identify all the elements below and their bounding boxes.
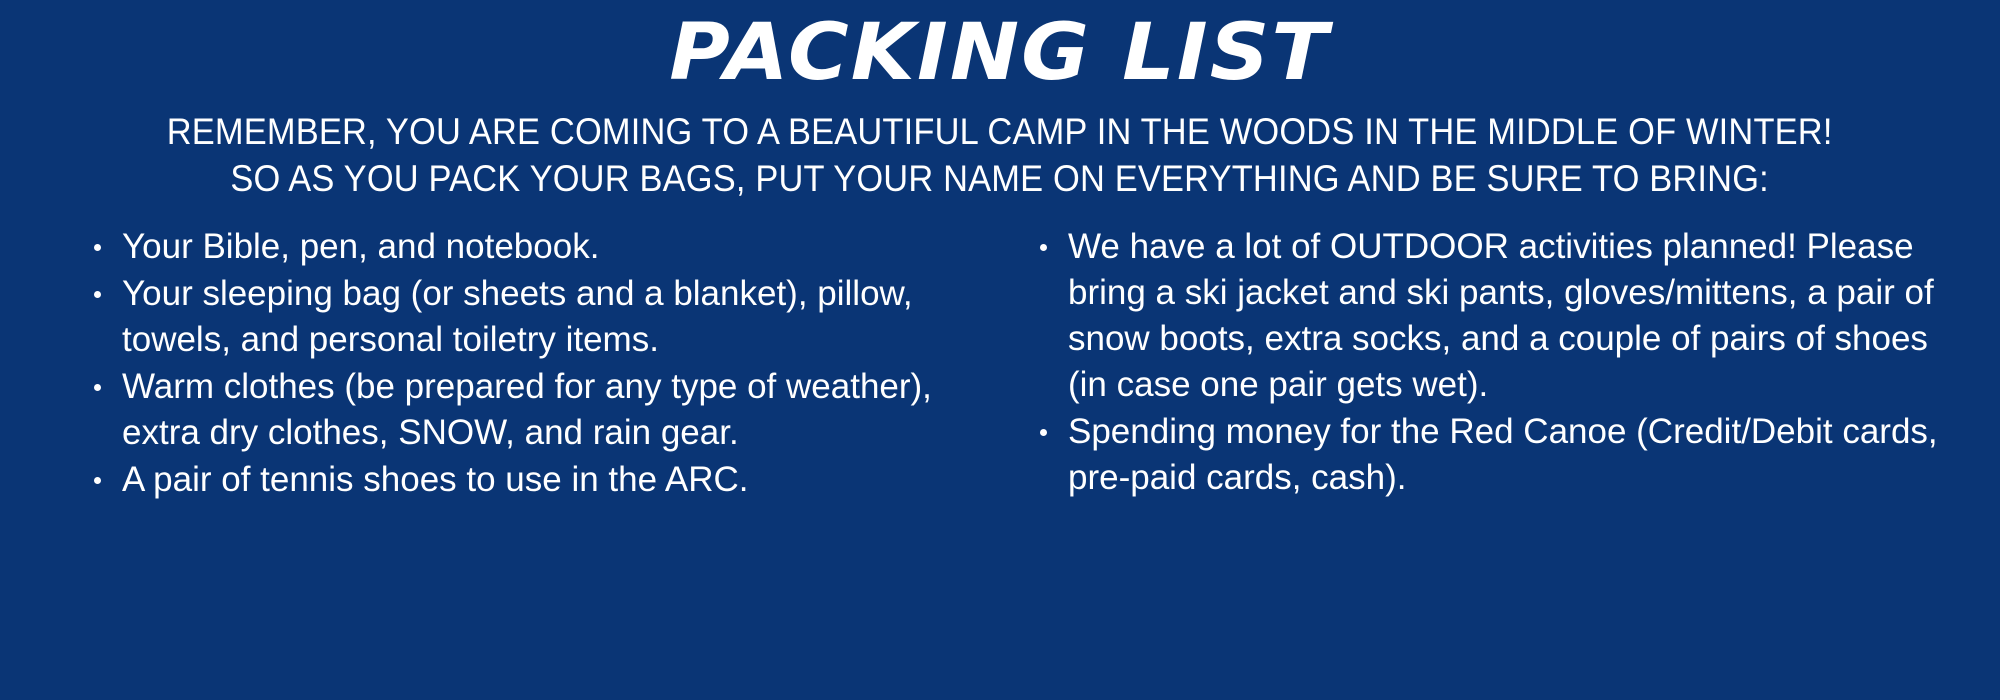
bullet-dot-icon: [1040, 429, 1047, 436]
list-item: Warm clothes (be prepared for any type o…: [90, 364, 976, 456]
list-item-text: We have a lot of OUTDOOR activities plan…: [1068, 227, 1934, 404]
bullet-dot-icon: [94, 384, 101, 391]
left-column: Your Bible, pen, and notebook. Your slee…: [42, 224, 1000, 504]
list-item-text: Spending money for the Red Canoe (Credit…: [1068, 412, 1938, 497]
list-item: Spending money for the Red Canoe (Credit…: [1036, 409, 1948, 501]
list-item-text: A pair of tennis shoes to use in the ARC…: [122, 460, 748, 499]
list-item: Your sleeping bag (or sheets and a blank…: [90, 271, 976, 363]
intro-line-2: SO AS YOU PACK YOUR BAGS, PUT YOUR NAME …: [167, 155, 1833, 202]
right-column: We have a lot of OUTDOOR activities plan…: [1000, 224, 1958, 502]
list-item-text: Warm clothes (be prepared for any type o…: [122, 367, 932, 452]
bullet-dot-icon: [94, 291, 101, 298]
packing-list-poster: Packing List REMEMBER, YOU ARE COMING TO…: [0, 0, 2000, 700]
list-item-text: Your Bible, pen, and notebook.: [122, 227, 599, 266]
packing-list-columns: Your Bible, pen, and notebook. Your slee…: [0, 202, 2000, 504]
intro-paragraph: REMEMBER, YOU ARE COMING TO A BEAUTIFUL …: [167, 108, 1833, 202]
list-item: Your Bible, pen, and notebook.: [90, 224, 976, 270]
right-bullet-list: We have a lot of OUTDOOR activities plan…: [1036, 224, 1948, 501]
bullet-dot-icon: [94, 244, 101, 251]
page-title: Packing List: [670, 14, 1331, 92]
bullet-dot-icon: [1040, 244, 1047, 251]
bullet-dot-icon: [94, 477, 101, 484]
list-item: A pair of tennis shoes to use in the ARC…: [90, 457, 976, 503]
list-item: We have a lot of OUTDOOR activities plan…: [1036, 224, 1948, 408]
left-bullet-list: Your Bible, pen, and notebook. Your slee…: [90, 224, 976, 503]
intro-line-1: REMEMBER, YOU ARE COMING TO A BEAUTIFUL …: [167, 108, 1833, 155]
list-item-text: Your sleeping bag (or sheets and a blank…: [122, 274, 913, 359]
